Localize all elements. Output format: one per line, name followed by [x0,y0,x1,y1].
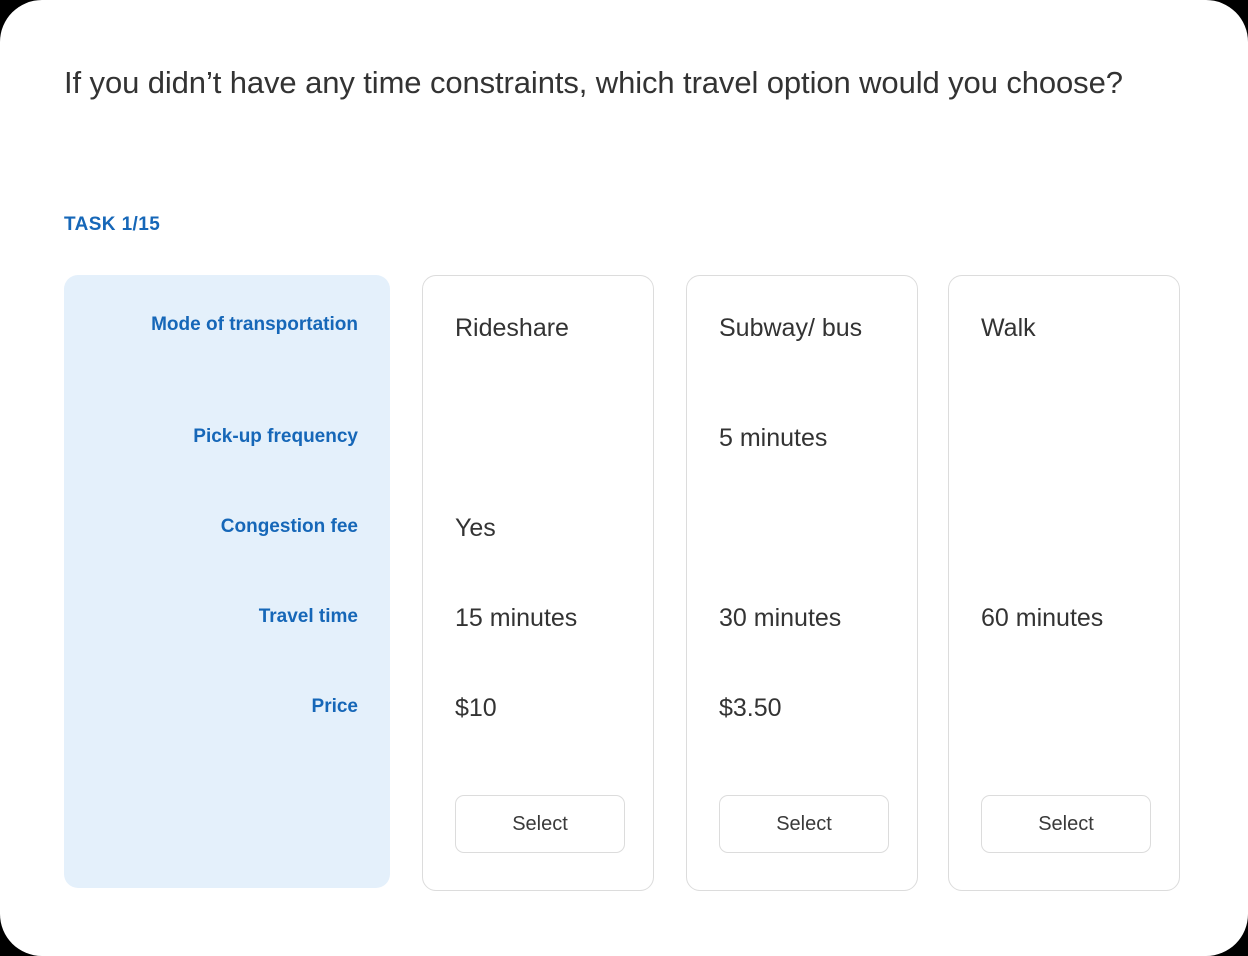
choice-matrix: Mode of transportation Pick-up frequency… [64,275,1184,891]
option-card-rideshare[interactable]: Rideshare Yes 15 minutes $10 Select [422,275,654,891]
select-button[interactable]: Select [719,795,889,853]
select-button-wrapper: Select [455,795,625,853]
attribute-column: Mode of transportation Pick-up frequency… [64,275,390,888]
attribute-label-mode-of-transportation: Mode of transportation [151,309,358,341]
option-price-value: $3.50 [719,690,901,726]
option-congestion-fee-value: Yes [455,510,637,546]
select-button[interactable]: Select [455,795,625,853]
option-card-walk[interactable]: Walk 60 minutes Select [948,275,1180,891]
option-travel-time-value: 15 minutes [455,600,637,636]
attribute-label-congestion-fee: Congestion fee [221,511,358,543]
select-button-wrapper: Select [981,795,1151,853]
task-progress-label: TASK 1/15 [64,214,160,236]
attribute-label-travel-time: Travel time [259,601,358,633]
page-title: If you didn’t have any time constraints,… [64,62,1154,104]
select-button-wrapper: Select [719,795,889,853]
option-mode-value: Walk [981,310,1163,346]
survey-page: If you didn’t have any time constraints,… [0,0,1248,956]
select-button[interactable]: Select [981,795,1151,853]
attribute-label-price: Price [312,691,358,723]
option-card-subway-bus[interactable]: Subway/ bus 5 minutes 30 minutes $3.50 S… [686,275,918,891]
option-price-value: $10 [455,690,637,726]
option-travel-time-value: 30 minutes [719,600,901,636]
option-mode-value: Subway/ bus [719,310,901,346]
attribute-label-pick-up-frequency: Pick-up frequency [193,421,358,453]
option-pickup-frequency-value: 5 minutes [719,420,901,456]
option-travel-time-value: 60 minutes [981,600,1163,636]
option-mode-value: Rideshare [455,310,637,346]
